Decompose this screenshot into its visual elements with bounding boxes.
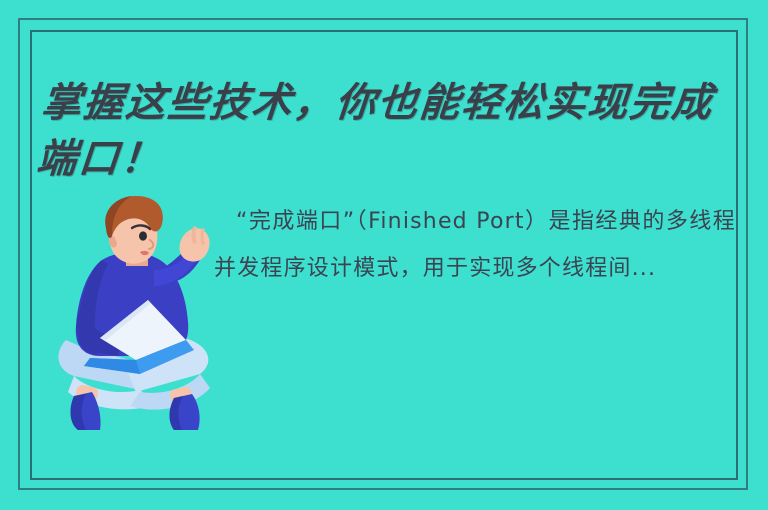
article-cover-card: 掌握这些技术，你也能轻松实现完成端口！ — [0, 0, 768, 510]
page-title: 掌握这些技术，你也能轻松实现完成端口！ — [34, 75, 734, 187]
hand — [179, 226, 209, 262]
illustration-person-with-laptop — [44, 190, 234, 430]
article-excerpt: “完成端口”（Finished Port）是指经典的多线程并发程序设计模式，用于… — [214, 198, 736, 292]
